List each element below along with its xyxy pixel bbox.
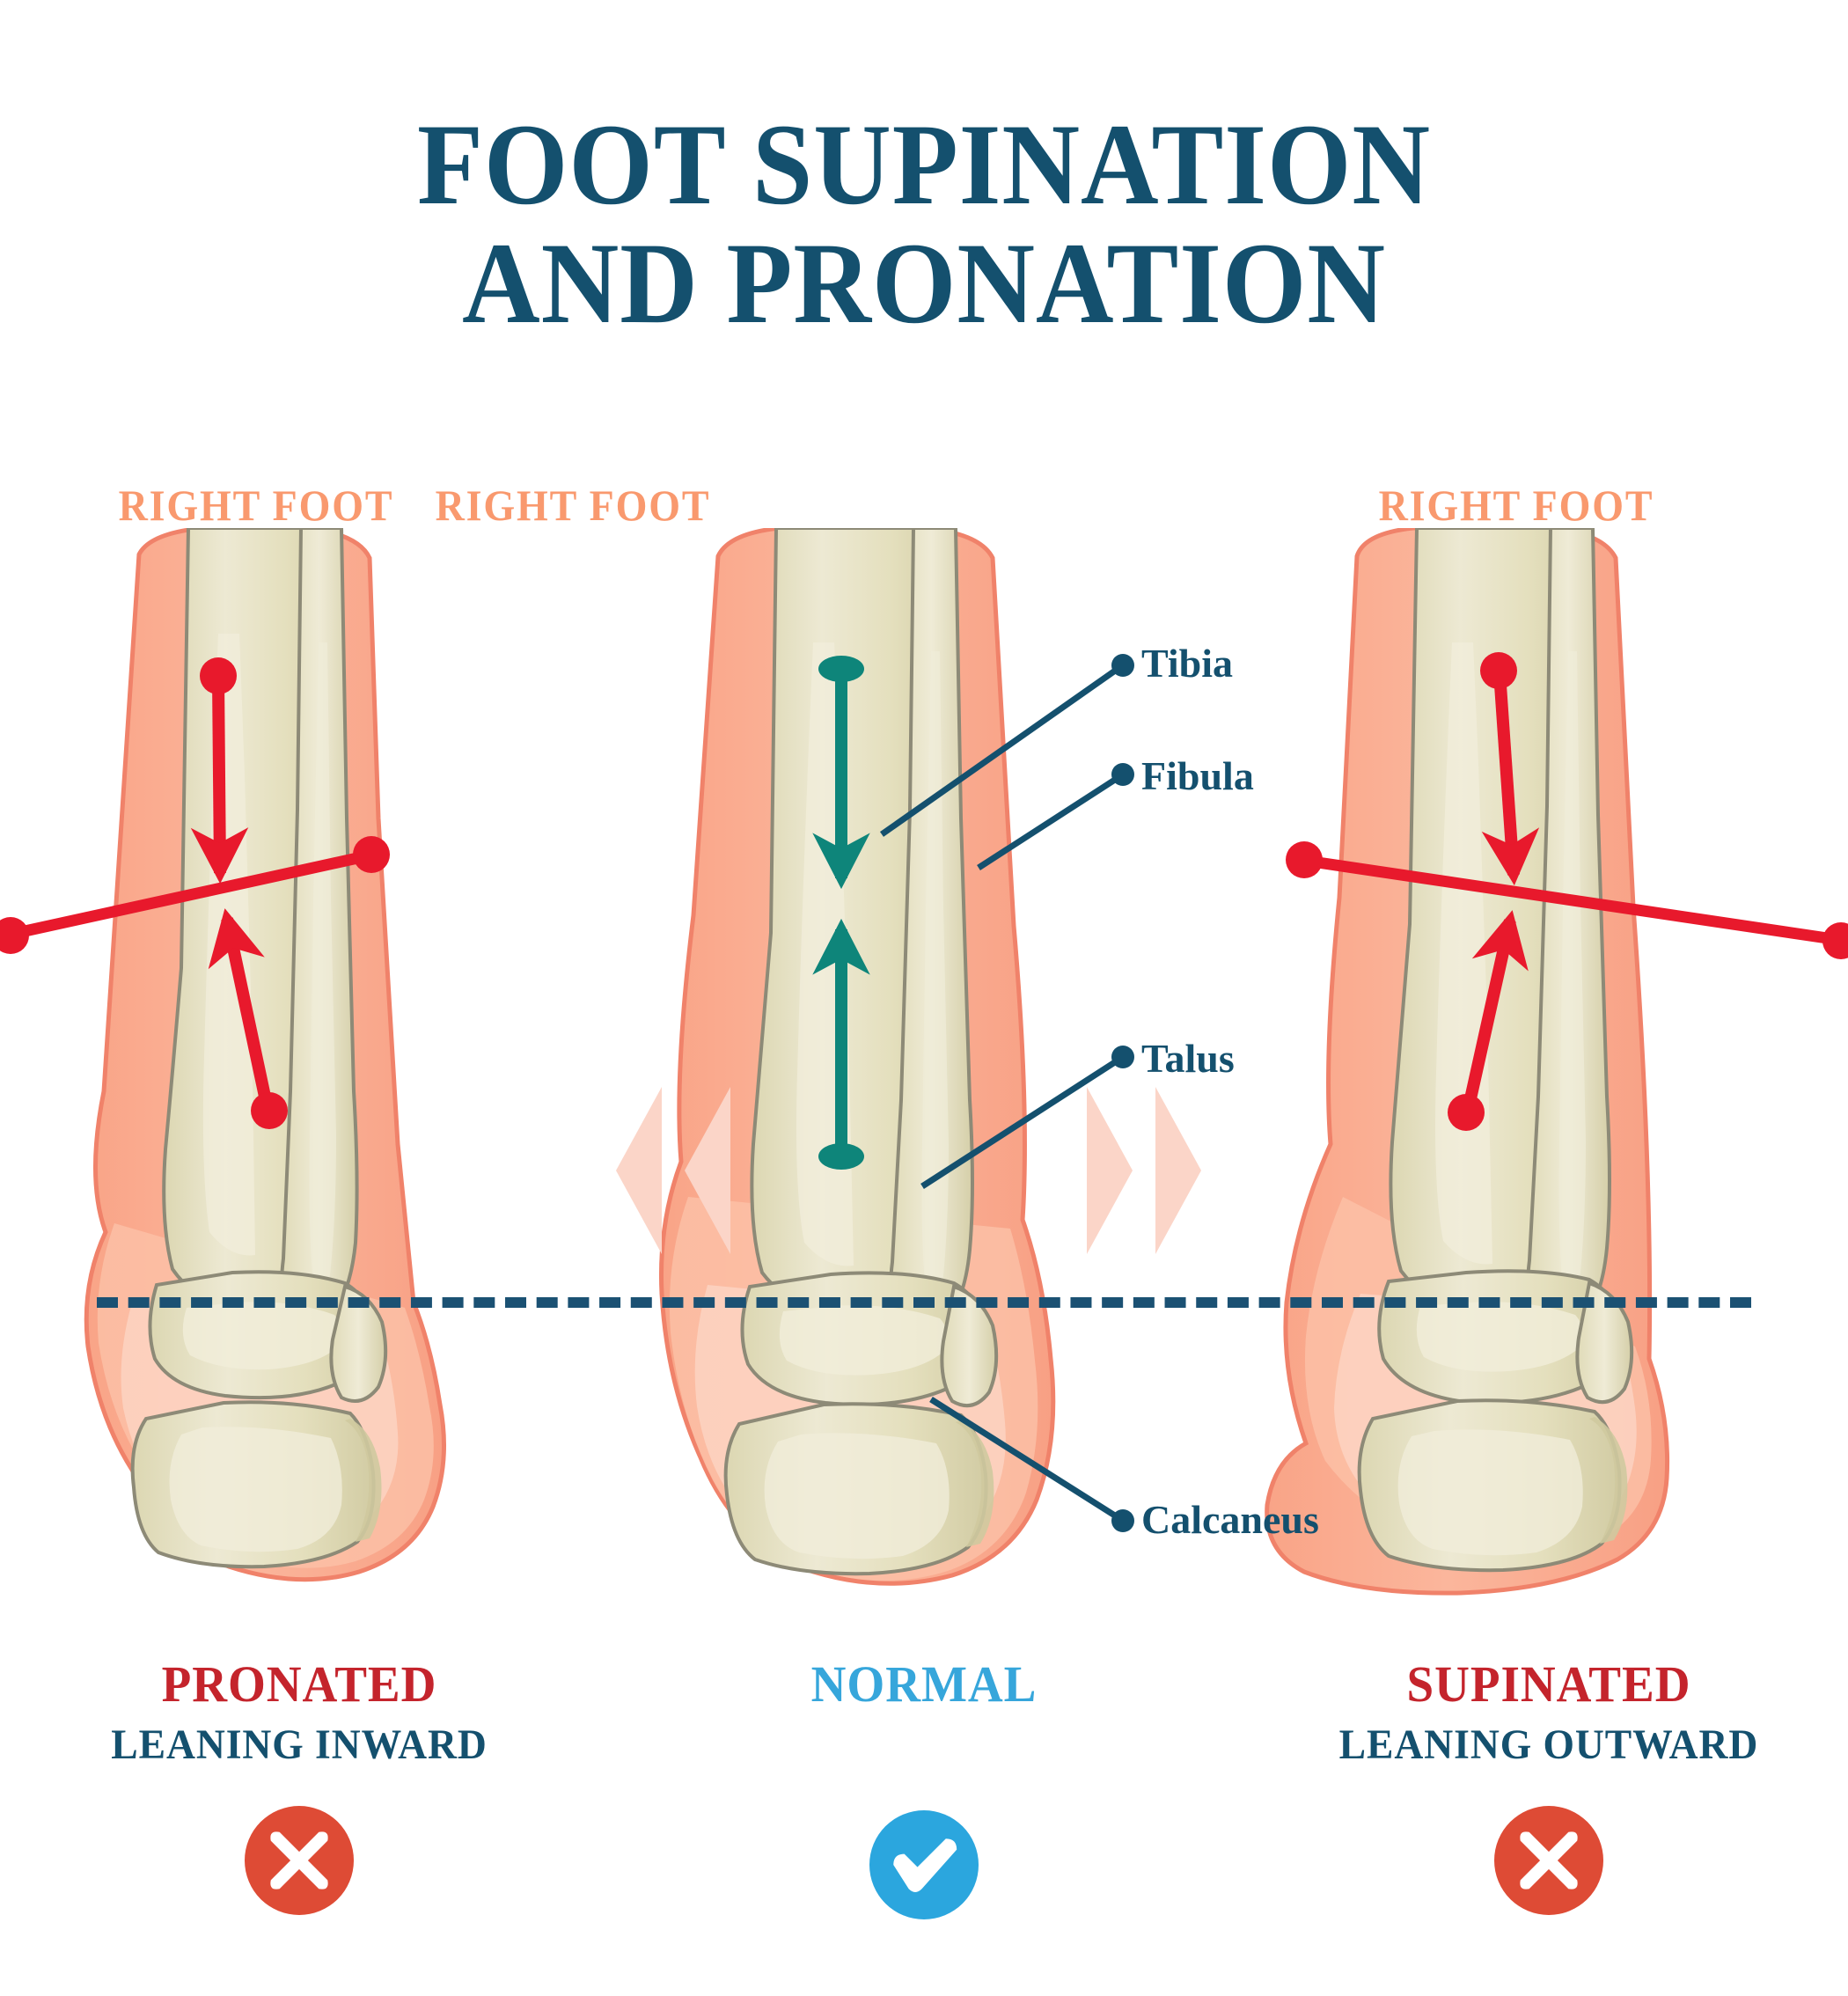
chevron-right-icon [1087, 1087, 1133, 1254]
pronated-axis-bottom-dot [251, 1092, 288, 1129]
normal-axis-top-cap [818, 656, 864, 682]
normal-axis-bottom-cap [818, 1143, 864, 1170]
chevron-left-icon [616, 1087, 662, 1254]
chevron-left-group [607, 1087, 739, 1254]
chevron-right-group [1078, 1087, 1210, 1254]
pronated-axis-top-dot [200, 657, 237, 694]
status-icon-wrap-pronated [0, 1806, 607, 1915]
column-label-supinated: RIGHT FOOT [1273, 480, 1759, 531]
title-line-2: AND PRONATION [65, 224, 1784, 343]
figure-supinated-foot [1232, 528, 1848, 1699]
supinated-foot-illustration [1232, 528, 1848, 1699]
column-label-normal: RIGHT FOOT [330, 480, 816, 531]
callout-label-calcaneus: Calcaneus [1141, 1496, 1319, 1543]
status-block-pronated: PRONATED LEANING INWARD [0, 1655, 607, 1915]
supinated-tilt-left-dot [1286, 841, 1323, 878]
status-icon-wrap-normal [616, 1810, 1232, 1919]
status-subtitle-pronated: LEANING INWARD [7, 1721, 592, 1769]
status-block-normal: NORMAL [616, 1655, 1232, 1919]
callout-label-tibia: Tibia [1141, 640, 1233, 686]
status-title-supinated: SUPINATED [1257, 1655, 1842, 1713]
chevron-left-icon-2 [685, 1087, 730, 1254]
cross-circle-icon [245, 1806, 354, 1915]
horizontal-reference-line [97, 1297, 1751, 1308]
check-circle-icon [869, 1810, 979, 1919]
pronated-foot-illustration [0, 528, 616, 1699]
supinated-axis-bottom-dot [1448, 1094, 1485, 1131]
status-icon-wrap-supinated [1241, 1806, 1848, 1915]
chevron-right-icon-2 [1155, 1087, 1201, 1254]
status-title-normal: NORMAL [632, 1655, 1217, 1713]
diagram-canvas: FOOT SUPINATION AND PRONATION RIGHT FOOT… [0, 0, 1848, 1996]
status-subtitle-supinated: LEANING OUTWARD [1257, 1721, 1842, 1769]
status-block-supinated: SUPINATED LEANING OUTWARD [1241, 1655, 1848, 1915]
pronated-downward-axis-arrow [218, 678, 220, 873]
title-line-1: FOOT SUPINATION [65, 106, 1784, 224]
callout-label-talus: Talus [1141, 1035, 1235, 1082]
status-title-pronated: PRONATED [7, 1655, 592, 1713]
figure-pronated-foot [0, 528, 616, 1699]
supinated-axis-top-dot [1480, 652, 1517, 689]
pronated-tilt-right-dot [353, 836, 390, 873]
callout-label-fibula: Fibula [1141, 752, 1254, 799]
supinated-tilt-right-dot [1822, 922, 1848, 959]
cross-circle-icon [1494, 1806, 1603, 1915]
page-title: FOOT SUPINATION AND PRONATION [0, 106, 1848, 342]
pronated-tilt-left-dot [0, 917, 29, 954]
